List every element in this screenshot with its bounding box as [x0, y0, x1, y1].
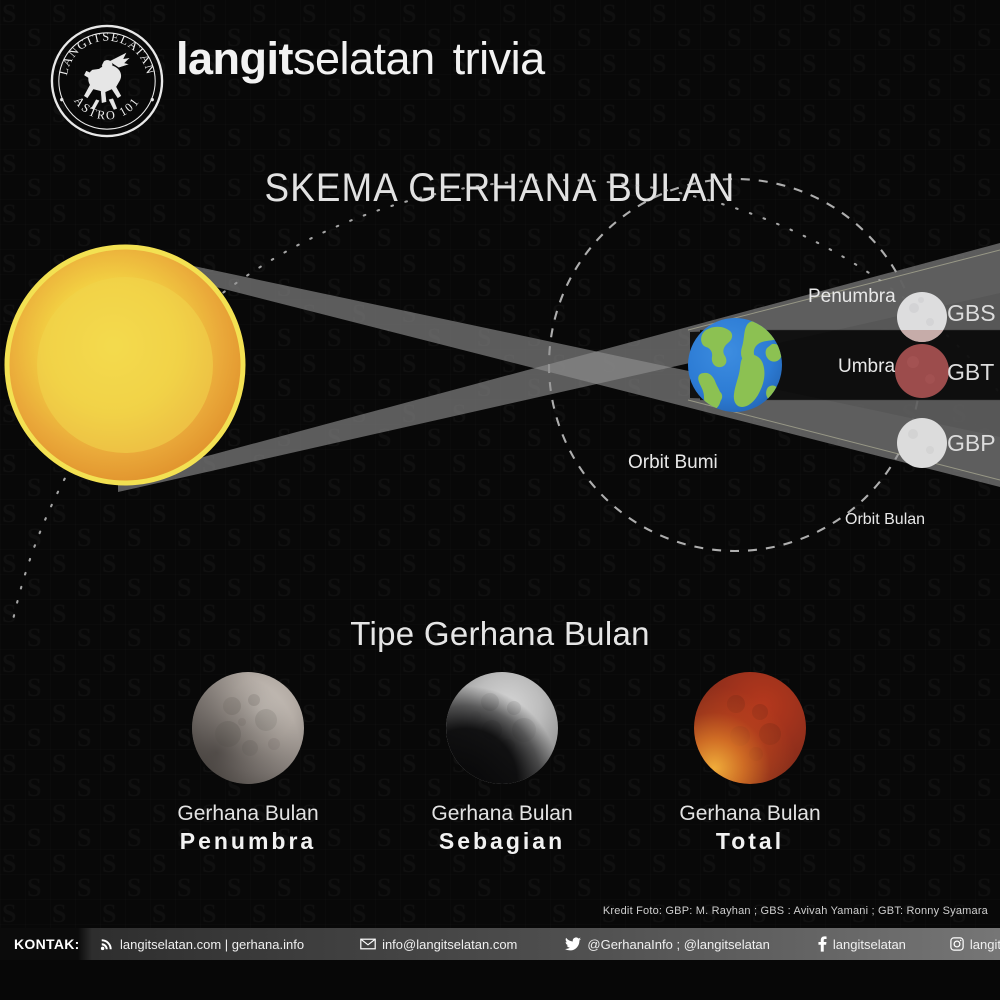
label-orbit-bulan: Orbit Bulan	[845, 511, 925, 529]
label-umbra: Umbra	[838, 356, 895, 378]
moon-gbp-icon	[897, 418, 947, 468]
instagram-icon	[950, 937, 964, 951]
rss-icon	[100, 937, 114, 951]
type-caption-line1: Gerhana Bulan	[382, 802, 622, 827]
twitter-icon	[565, 937, 581, 951]
type-caption-line2: Penumbra	[128, 827, 368, 857]
contact-email-text: info@langitselatan.com	[382, 937, 517, 952]
section-title-tipe: Tipe Gerhana Bulan	[0, 615, 1000, 653]
contact-twitter[interactable]: @GerhanaInfo ; @langitselatan	[565, 937, 770, 952]
contact-twitter-text: @GerhanaInfo ; @langitselatan	[587, 937, 770, 952]
label-penumbra: Penumbra	[808, 286, 896, 308]
contact-instagram[interactable]: langitselatanmedia	[950, 937, 1000, 952]
type-caption-line1: Gerhana Bulan	[630, 802, 870, 827]
moon-gbt-icon	[895, 344, 949, 398]
type-penumbral: Gerhana Bulan Penumbra	[128, 672, 368, 857]
label-gbt: GBT	[947, 359, 994, 386]
type-caption-line1: Gerhana Bulan	[128, 802, 368, 827]
label-gbp: GBP	[947, 430, 996, 457]
moon-partial-photo	[446, 672, 558, 784]
contact-website[interactable]: langitselatan.com | gerhana.info	[100, 937, 304, 952]
type-caption-line2: Total	[630, 827, 870, 857]
contact-bar: KONTAK: langitselatan.com | gerhana.info…	[0, 928, 1000, 960]
contact-facebook-text: langitselatan	[833, 937, 906, 952]
facebook-icon	[818, 936, 827, 952]
footer-spacer	[0, 960, 1000, 1000]
type-partial: Gerhana Bulan Sebagian	[382, 672, 622, 857]
eclipse-types: Gerhana Bulan Penumbra Gerhana Bulan Seb…	[0, 672, 1000, 882]
contact-email[interactable]: info@langitselatan.com	[360, 937, 517, 952]
label-gbs: GBS	[947, 300, 996, 327]
type-caption-line2: Sebagian	[382, 827, 622, 857]
photo-credit: Kredit Foto: GBP: M. Rayhan ; GBS : Aviv…	[0, 905, 988, 917]
label-orbit-bumi: Orbit Bumi	[628, 452, 718, 474]
type-total: Gerhana Bulan Total	[630, 672, 870, 857]
kontak-label: KONTAK:	[0, 936, 86, 952]
moon-penumbral-photo	[192, 672, 304, 784]
sun-icon	[7, 247, 243, 483]
contact-facebook[interactable]: langitselatan	[818, 936, 906, 952]
mail-icon	[360, 938, 376, 950]
contact-instagram-text: langitselatanmedia	[970, 937, 1000, 952]
moon-total-photo	[694, 672, 806, 784]
infographic-page: S S LANGITSELATAN ASTRO 101	[0, 0, 1000, 1000]
contact-website-text: langitselatan.com | gerhana.info	[120, 937, 304, 952]
